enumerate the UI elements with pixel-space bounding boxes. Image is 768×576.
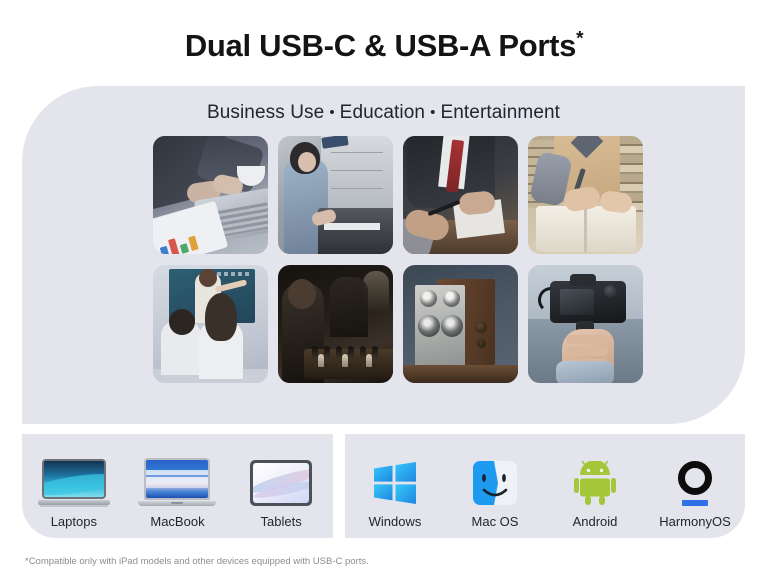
page-title: Dual USB-C & USB-A Ports* bbox=[0, 28, 768, 64]
device-item-tablets[interactable]: Tablets bbox=[233, 443, 329, 529]
windows-icon bbox=[373, 455, 417, 511]
harmonyos-bar-icon bbox=[682, 500, 708, 506]
laptop-icon bbox=[38, 455, 110, 511]
os-label-macos: Mac OS bbox=[472, 514, 519, 529]
tablet-icon bbox=[250, 455, 312, 511]
photo-chess-game-dark bbox=[278, 265, 393, 383]
os-item-windows[interactable]: Windows bbox=[347, 443, 443, 529]
os-label-harmonyos: HarmonyOS bbox=[659, 514, 731, 529]
subtitle-part-education: Education bbox=[340, 102, 425, 123]
product-feature-banner: Dual USB-C & USB-A Ports* Business Use•E… bbox=[0, 0, 768, 576]
supported-devices-panel: Laptops MacBook bbox=[22, 434, 333, 538]
os-item-harmonyos[interactable]: HarmonyOS bbox=[647, 443, 743, 529]
os-label-windows: Windows bbox=[369, 514, 422, 529]
os-label-android: Android bbox=[573, 514, 618, 529]
compatibility-panels: Laptops MacBook bbox=[22, 434, 745, 538]
device-item-laptops[interactable]: Laptops bbox=[26, 443, 122, 529]
subtitle-part-business: Business Use bbox=[207, 102, 324, 123]
device-item-macbook[interactable]: MacBook bbox=[129, 443, 225, 529]
device-label-macbook: MacBook bbox=[150, 514, 204, 529]
footnote: *Compatible only with iPad models and ot… bbox=[25, 556, 369, 567]
supported-os-panel: Windows Mac OS bbox=[345, 434, 745, 538]
photo-office-copier-printer bbox=[278, 136, 393, 254]
macbook-icon bbox=[138, 455, 216, 511]
use-case-photo-grid bbox=[153, 136, 643, 383]
finder-face-svg bbox=[473, 461, 517, 505]
android-robot-svg bbox=[574, 461, 616, 505]
macos-icon bbox=[473, 455, 517, 511]
photo-businessman-signing-documents bbox=[403, 136, 518, 254]
photo-classroom-teacher-students bbox=[153, 265, 268, 383]
photo-student-writing-notebook bbox=[528, 136, 643, 254]
photo-business-meeting-laptop-charts bbox=[153, 136, 268, 254]
bullet-separator-icon: • bbox=[324, 104, 339, 121]
page-title-asterisk: * bbox=[576, 29, 583, 50]
photo-camera-handheld-grip bbox=[528, 265, 643, 383]
os-item-android[interactable]: Android bbox=[547, 443, 643, 529]
device-label-tablets: Tablets bbox=[261, 514, 302, 529]
harmonyos-ring-icon bbox=[678, 461, 712, 495]
page-title-text: Dual USB-C & USB-A Ports bbox=[185, 28, 576, 63]
bullet-separator-icon: • bbox=[425, 104, 440, 121]
os-item-macos[interactable]: Mac OS bbox=[447, 443, 543, 529]
harmonyos-icon bbox=[673, 455, 717, 511]
android-icon bbox=[574, 455, 616, 511]
subtitle-part-entertainment: Entertainment bbox=[440, 102, 560, 123]
windows-logo-svg bbox=[373, 462, 417, 504]
device-label-laptops: Laptops bbox=[51, 514, 97, 529]
hero-panel: Business Use•Education•Entertainment bbox=[22, 86, 745, 424]
photo-bookshelf-speaker bbox=[403, 265, 518, 383]
hero-subtitle: Business Use•Education•Entertainment bbox=[22, 102, 745, 124]
